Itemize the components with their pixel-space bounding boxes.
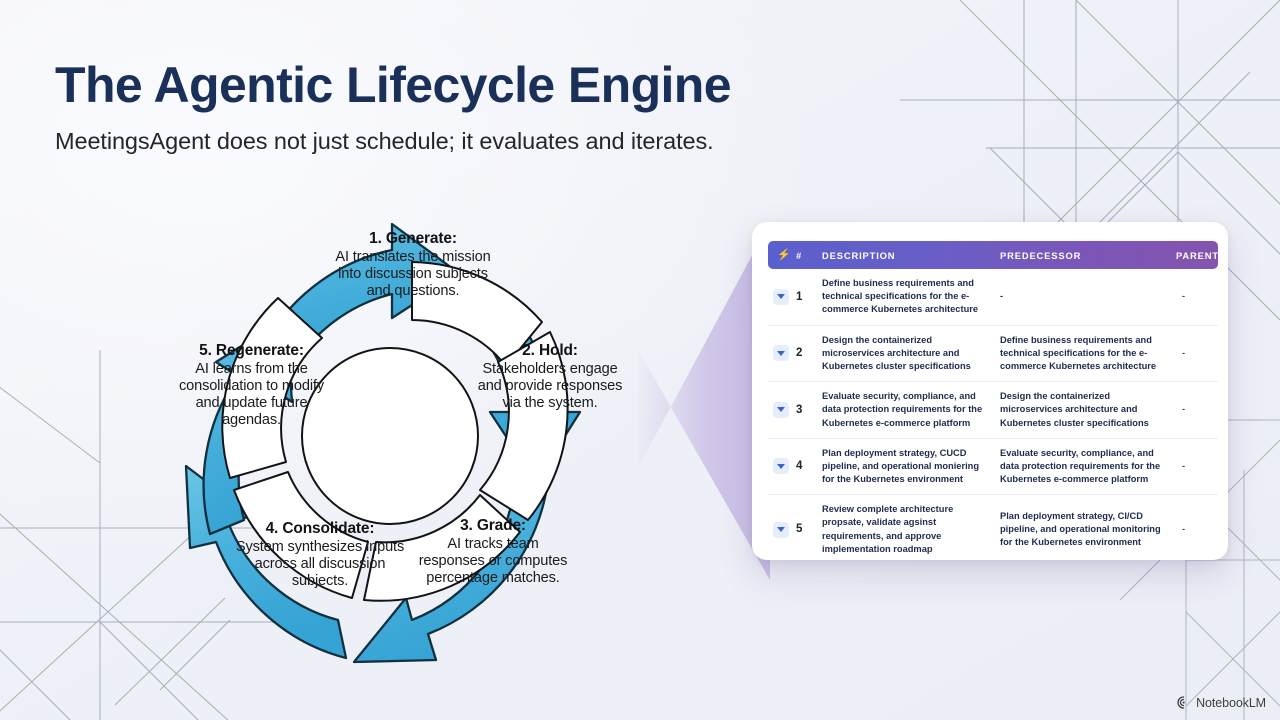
task-table: ⚡ # DESCRIPTION PREDECESSOR PARENT 1 Def… bbox=[768, 241, 1218, 560]
table-header-row: ⚡ # DESCRIPTION PREDECESSOR PARENT bbox=[768, 241, 1218, 269]
expand-caret-icon[interactable] bbox=[773, 458, 789, 474]
table-row[interactable]: 3 Evaluate security, compliance, and dat… bbox=[768, 382, 1218, 439]
cycle-step-generate-title: 1. Generate: bbox=[327, 230, 499, 248]
expand-caret-icon[interactable] bbox=[773, 345, 789, 361]
cycle-step-consolidate: 4. Consolidate: System synthesizes input… bbox=[235, 520, 405, 590]
table-row[interactable]: 4 Plan deployment strategy, CUCD pipelin… bbox=[768, 438, 1218, 495]
column-header-description[interactable]: DESCRIPTION bbox=[818, 241, 996, 269]
row-number: 4 bbox=[792, 438, 818, 495]
expand-caret-icon[interactable] bbox=[773, 402, 789, 418]
notebooklm-label: NotebookLM bbox=[1196, 696, 1266, 710]
cycle-step-hold: 2. Hold: Stakeholders engage and provide… bbox=[477, 342, 623, 412]
row-description: Review complete architecture propsate, v… bbox=[818, 495, 996, 560]
column-header-parent[interactable]: PARENT bbox=[1172, 241, 1218, 269]
row-toggle-cell bbox=[768, 325, 792, 382]
row-toggle-cell bbox=[768, 495, 792, 560]
row-toggle-cell bbox=[768, 382, 792, 439]
row-number: 1 bbox=[792, 269, 818, 325]
cycle-step-regenerate: 5. Regenerate: AI learns from the consol… bbox=[175, 342, 328, 429]
slide-canvas: The Agentic Lifecycle Engine MeetingsAge… bbox=[0, 0, 1280, 720]
row-predecessor: Design the containerized microservices a… bbox=[996, 382, 1172, 439]
column-header-predecessor[interactable]: PREDECESSOR bbox=[996, 241, 1172, 269]
column-header-bolt: ⚡ bbox=[768, 241, 792, 269]
expand-caret-icon[interactable] bbox=[773, 289, 789, 305]
task-table-card: ⚡ # DESCRIPTION PREDECESSOR PARENT 1 Def… bbox=[752, 222, 1228, 560]
row-parent: - bbox=[1172, 382, 1218, 439]
row-predecessor: - bbox=[996, 269, 1172, 325]
table-row[interactable]: 5 Review complete architecture propsate,… bbox=[768, 495, 1218, 560]
row-description: Design the containerized microservices a… bbox=[818, 325, 996, 382]
table-row[interactable]: 1 Define business requirements and techn… bbox=[768, 269, 1218, 325]
lightning-bolt-icon: ⚡ bbox=[777, 250, 792, 261]
row-description: Define business requirements and technic… bbox=[818, 269, 996, 325]
row-number: 5 bbox=[792, 495, 818, 560]
row-description: Plan deployment strategy, CUCD pipeline,… bbox=[818, 438, 996, 495]
row-number: 3 bbox=[792, 382, 818, 439]
cycle-step-hold-title: 2. Hold: bbox=[477, 342, 623, 360]
cycle-step-grade-desc: AI tracks team responses or computes per… bbox=[413, 536, 573, 587]
page-subtitle: MeetingsAgent does not just schedule; it… bbox=[55, 128, 955, 155]
row-toggle-cell bbox=[768, 269, 792, 325]
row-parent: - bbox=[1172, 438, 1218, 495]
row-predecessor: Plan deployment strategy, CI/CD pipeline… bbox=[996, 495, 1172, 560]
cycle-step-grade: 3. Grade: AI tracks team responses or co… bbox=[413, 517, 573, 587]
cycle-step-consolidate-desc: System synthesizes inputs across all dis… bbox=[235, 539, 405, 590]
cycle-step-regenerate-title: 5. Regenerate: bbox=[175, 342, 328, 360]
row-description: Evaluate security, compliance, and data … bbox=[818, 382, 996, 439]
row-parent: - bbox=[1172, 325, 1218, 382]
notebooklm-spiral-icon bbox=[1176, 695, 1191, 710]
column-header-number[interactable]: # bbox=[792, 241, 818, 269]
cycle-step-regenerate-desc: AI learns from the consolidation to modi… bbox=[175, 361, 328, 429]
table-body: 1 Define business requirements and techn… bbox=[768, 269, 1218, 560]
row-parent: - bbox=[1172, 495, 1218, 560]
row-predecessor: Define business requirements and technic… bbox=[996, 325, 1172, 382]
row-toggle-cell bbox=[768, 438, 792, 495]
row-number: 2 bbox=[792, 325, 818, 382]
header: The Agentic Lifecycle Engine MeetingsAge… bbox=[55, 58, 955, 155]
notebooklm-watermark: NotebookLM bbox=[1176, 695, 1266, 710]
cycle-step-hold-desc: Stakeholders engage and provide response… bbox=[477, 361, 623, 412]
cycle-diagram: 1. Generate: AI translates the mission i… bbox=[150, 190, 670, 700]
cycle-step-consolidate-title: 4. Consolidate: bbox=[235, 520, 405, 538]
row-parent: - bbox=[1172, 269, 1218, 325]
cycle-step-generate-desc: AI translates the mission into discussio… bbox=[327, 249, 499, 300]
cycle-step-grade-title: 3. Grade: bbox=[413, 517, 573, 535]
cycle-step-generate: 1. Generate: AI translates the mission i… bbox=[327, 230, 499, 300]
table-row[interactable]: 2 Design the containerized microservices… bbox=[768, 325, 1218, 382]
page-title: The Agentic Lifecycle Engine bbox=[55, 58, 955, 112]
expand-caret-icon[interactable] bbox=[773, 522, 789, 538]
row-predecessor: Evaluate security, compliance, and data … bbox=[996, 438, 1172, 495]
